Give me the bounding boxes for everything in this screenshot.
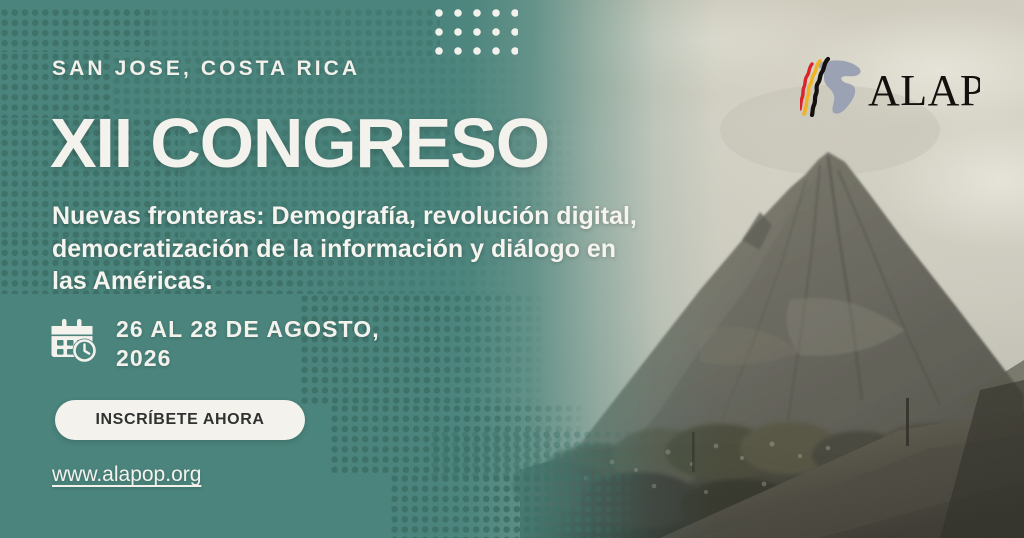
event-date: 26 AL 28 DE AGOSTO, 2026 [116, 315, 380, 374]
subtitle-line-3: las Américas. [52, 265, 692, 298]
event-subtitle: Nuevas fronteras: Demografía, revolución… [52, 200, 692, 298]
calendar-clock-icon [50, 317, 98, 365]
register-button[interactable]: INSCRÍBETE AHORA [55, 400, 305, 440]
event-promo-banner: SAN JOSE, COSTA RICA XII CONGRESO Nuevas… [0, 0, 1024, 538]
subtitle-line-2: democratización de la información y diál… [52, 233, 692, 266]
event-date-row: 26 AL 28 DE AGOSTO, 2026 [50, 315, 380, 374]
date-line-1: 26 AL 28 DE AGOSTO, [116, 315, 380, 344]
event-location: SAN JOSE, COSTA RICA [52, 57, 360, 81]
register-button-label: INSCRÍBETE AHORA [95, 411, 264, 429]
date-line-2: 2026 [116, 344, 380, 373]
event-title: XII CONGRESO [50, 108, 549, 178]
website-url-link[interactable]: www.alapop.org [52, 463, 201, 487]
alap-wordmark: ALAP. [868, 66, 980, 115]
alap-logo: ALAP. [800, 55, 980, 117]
subtitle-line-1: Nuevas fronteras: Demografía, revolución… [52, 200, 692, 233]
banner-content: SAN JOSE, COSTA RICA XII CONGRESO Nuevas… [0, 0, 700, 538]
